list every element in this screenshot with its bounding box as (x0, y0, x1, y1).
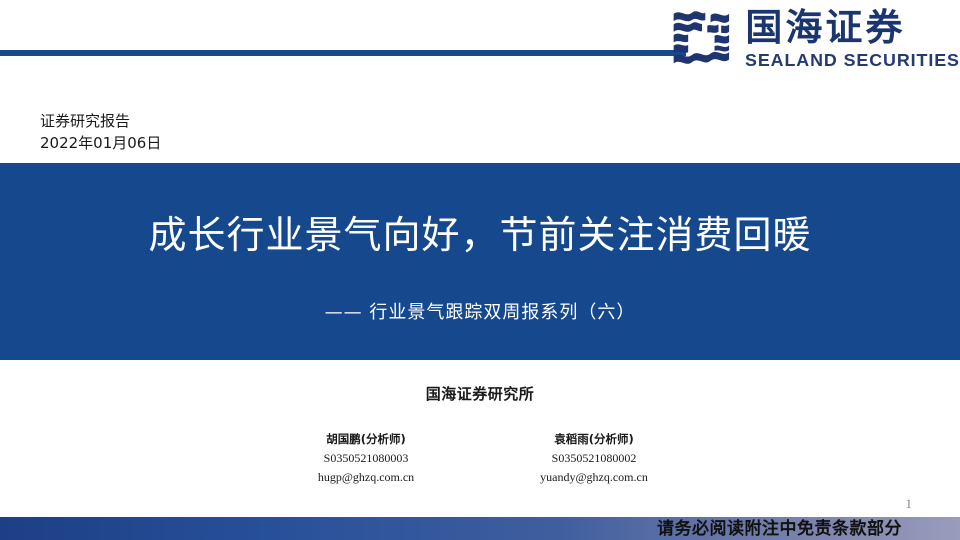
sealand-wave-emblem-icon (671, 6, 737, 72)
analyst-email[interactable]: hugp@ghzq.com.cn (281, 468, 451, 487)
report-cover-slide: 国海证券 SEALAND SECURITIES 证券研究报告 2022年01月0… (0, 0, 960, 540)
analyst-email[interactable]: yuandy@ghzq.com.cn (509, 468, 679, 487)
page-title: 成长行业景气向好，节前关注消费回暖 (0, 211, 960, 259)
analyst-entry: 胡国鹏(分析师) S0350521080003 hugp@ghzq.com.cn (281, 430, 451, 487)
brand-logo: 国海证券 SEALAND SECURITIES (671, 6, 956, 78)
analyst-license: S0350521080003 (281, 449, 451, 468)
report-category: 证券研究报告 (40, 110, 161, 132)
analyst-entry: 袁稻雨(分析师) S0350521080002 yuandy@ghzq.com.… (509, 430, 679, 487)
header-rule-divider (0, 50, 686, 56)
analyst-name: 袁稻雨(分析师) (509, 430, 679, 449)
footer-disclaimer: 请务必阅读附注中免责条款部分 (657, 519, 902, 540)
report-date: 2022年01月06日 (40, 132, 161, 154)
brand-name-en: SEALAND SECURITIES (745, 50, 960, 70)
analyst-list: 胡国鹏(分析师) S0350521080003 hugp@ghzq.com.cn… (0, 430, 960, 487)
title-banner: 成长行业景气向好，节前关注消费回暖 —— 行业景气跟踪双周报系列（六） (0, 163, 960, 360)
page-number: 1 (906, 496, 913, 512)
report-meta: 证券研究报告 2022年01月06日 (40, 110, 161, 154)
page-subtitle: —— 行业景气跟踪双周报系列（六） (0, 300, 960, 326)
institute-name: 国海证券研究所 (0, 383, 960, 404)
analyst-license: S0350521080002 (509, 449, 679, 468)
brand-name-cn: 国海证券 (745, 8, 956, 48)
analyst-name: 胡国鹏(分析师) (281, 430, 451, 449)
